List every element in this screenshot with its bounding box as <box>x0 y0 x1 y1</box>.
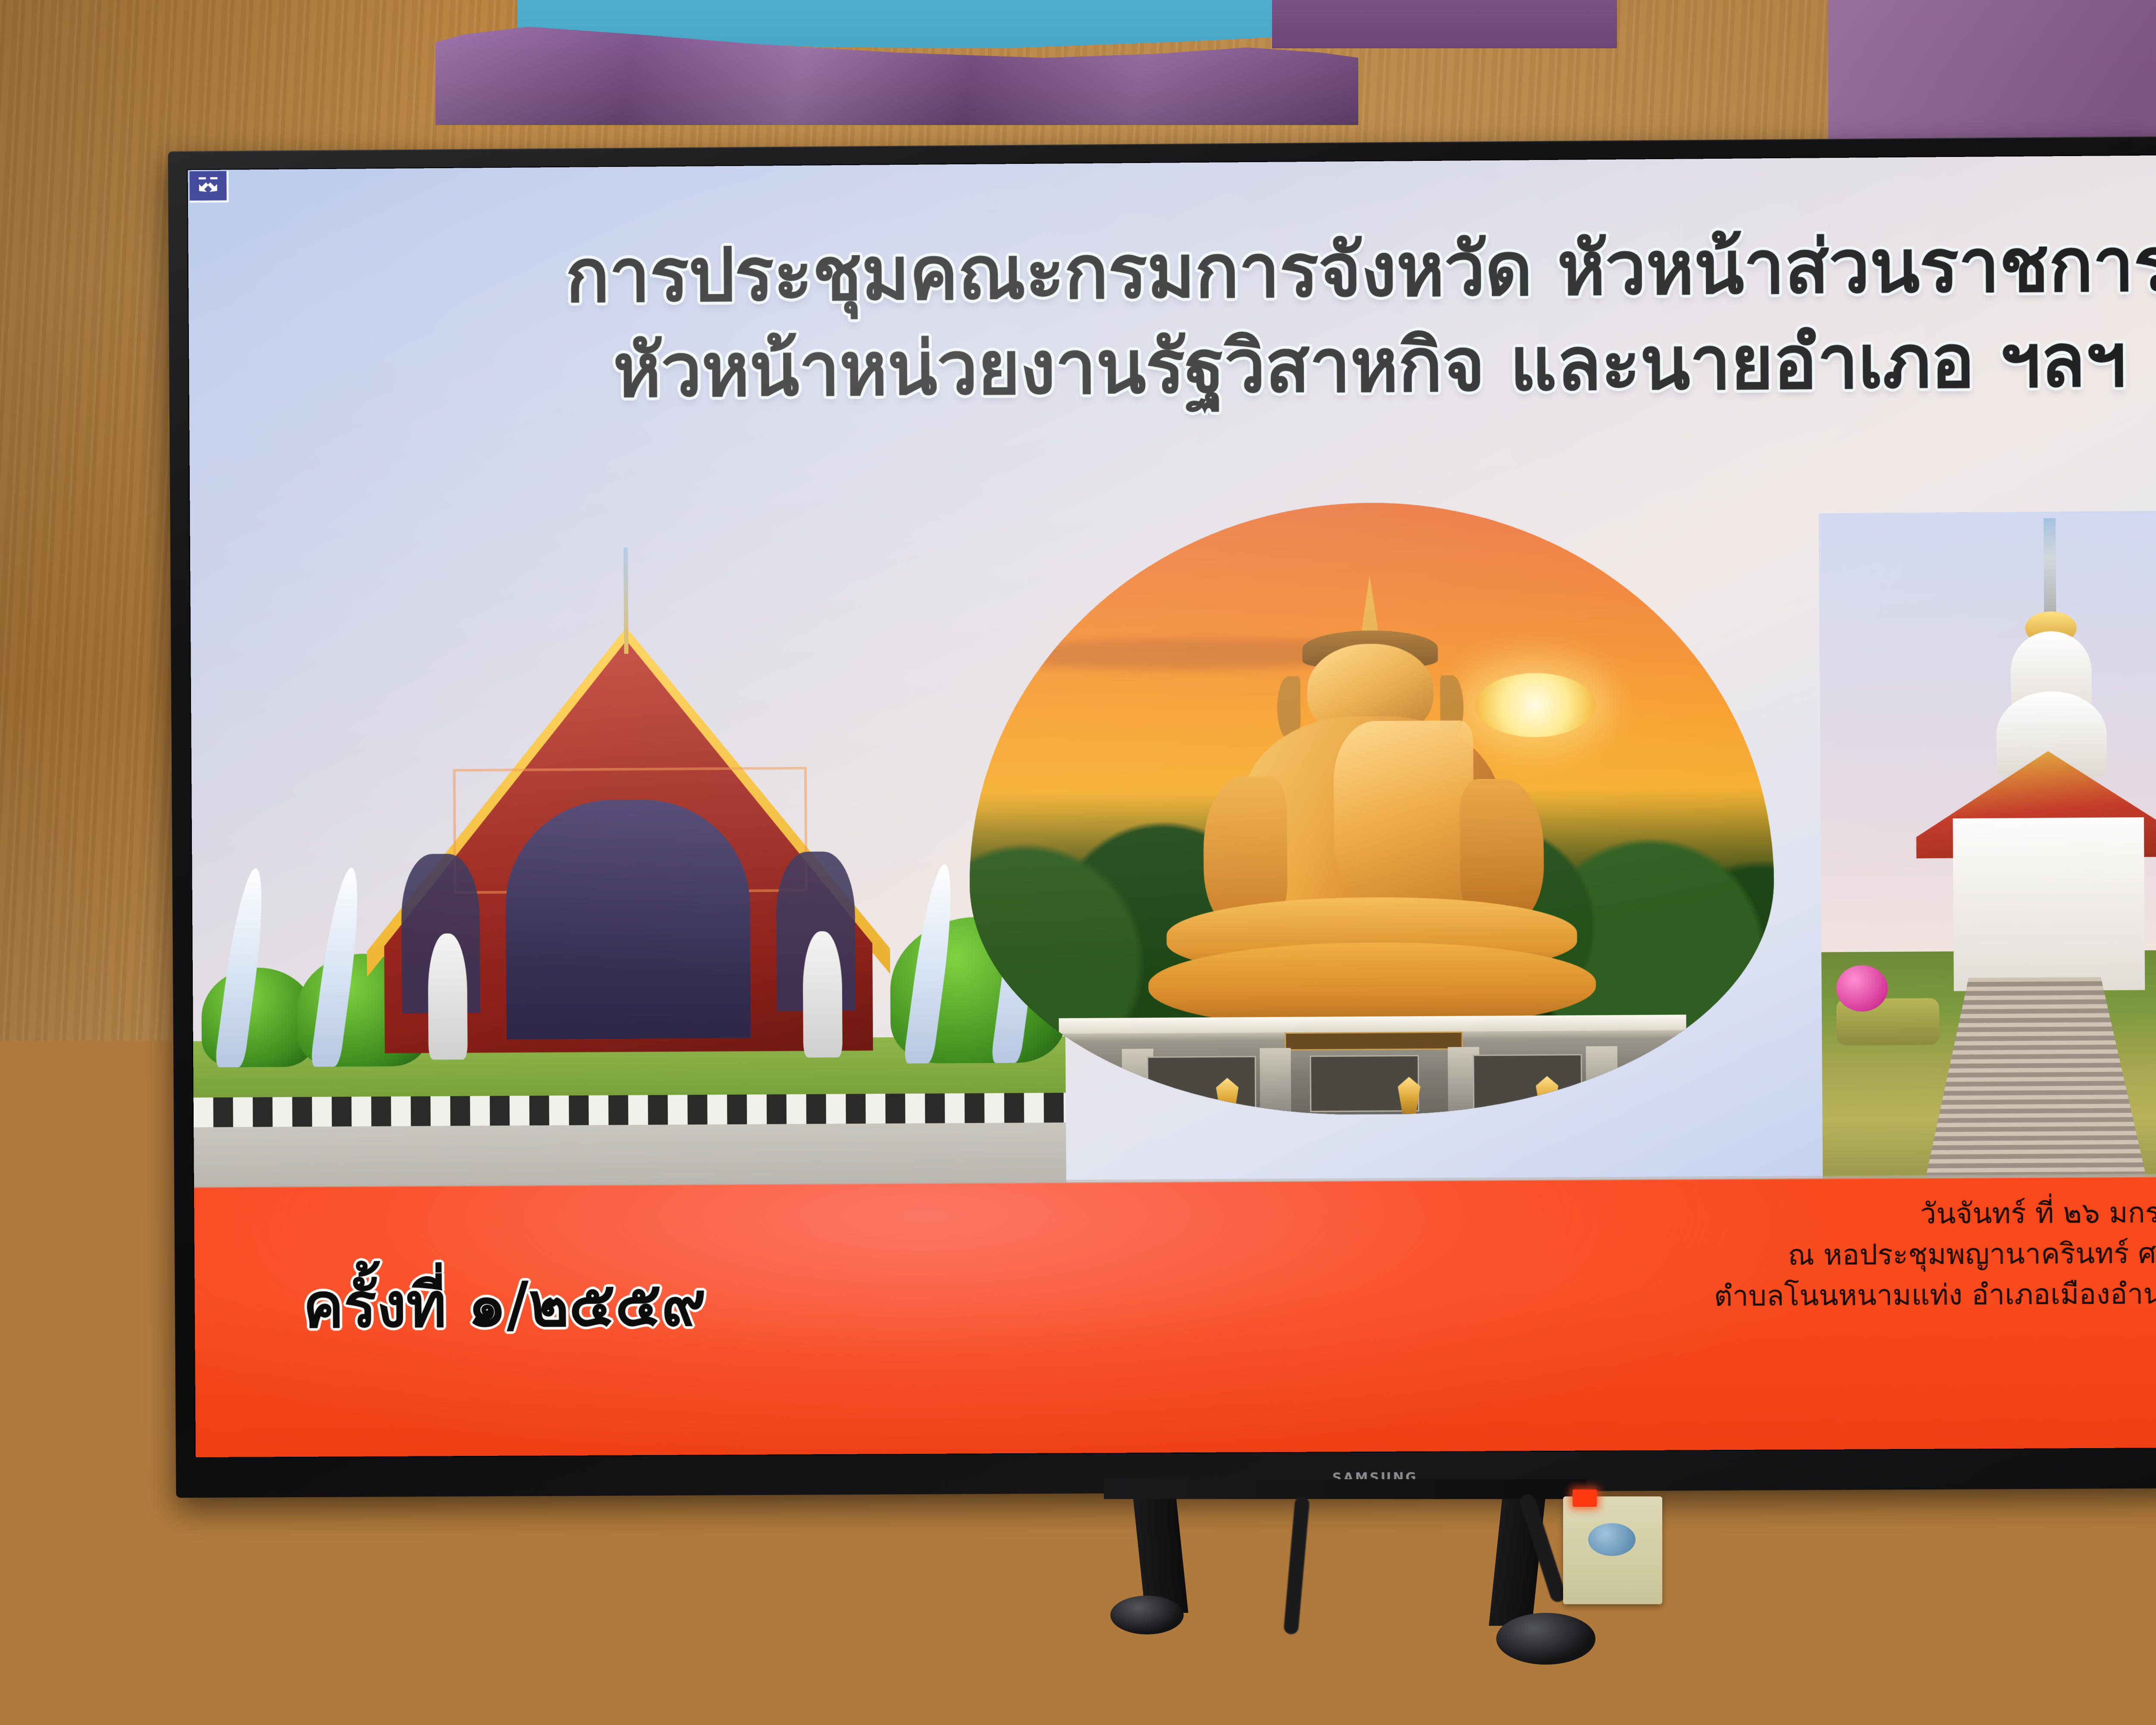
event-address: ตำบลโนนหนามแท่ง อำเภอเมืองอำนาจเจริญ จัง… <box>1714 1272 2156 1316</box>
temple-entrance <box>505 799 751 1039</box>
temple-spire <box>624 548 628 654</box>
pedestal-panel <box>1147 1056 1257 1113</box>
slide-photo-band <box>190 508 2156 1187</box>
pedestal-column <box>1260 1048 1291 1115</box>
pedestal-plaque <box>1285 1032 1463 1051</box>
stand-foot-left <box>1110 1596 1184 1634</box>
power-indicator-led <box>1573 1490 1597 1507</box>
table-seam <box>0 1703 2156 1706</box>
stand-foot-right <box>1496 1613 1595 1665</box>
stupa-spire <box>2043 518 2056 618</box>
buddha-photo-center <box>968 500 1776 1170</box>
pedestal-column <box>1586 1046 1617 1113</box>
lion-guardian-statue <box>428 933 468 1060</box>
power-strip-socket <box>1588 1523 1636 1556</box>
buddha-statue <box>1137 575 1606 1030</box>
stupa-base-building <box>1953 817 2145 991</box>
slide-title-line2: หัวหน้าหน่วยงานรัฐวิสาหกิจ และนายอำเภอ ฯ… <box>227 313 2156 419</box>
table-seam <box>0 1570 2156 1572</box>
exit-fullscreen-icon[interactable] <box>190 171 229 203</box>
sunset-oval <box>968 500 1775 1117</box>
temple-photo-left <box>190 518 1066 1187</box>
event-venue: ณ หอประชุมพญานาครินทร์ ศาลากลางจังหวัดอำ… <box>1714 1231 2156 1276</box>
tv-screen[interactable]: การประชุมคณะกรมการจังหวัด หัวหน้าส่วนราช… <box>188 153 2156 1457</box>
slide-title-block: การประชุมคณะกรมการจังหวัด หัวหน้าส่วนราช… <box>188 217 2156 419</box>
buddha-pedestal <box>1059 1015 1686 1116</box>
stupa-photo-right <box>1819 508 2156 1178</box>
buddha-robe <box>1333 720 1474 920</box>
pedestal-panel <box>1473 1054 1583 1111</box>
lion-guardian-statue <box>802 931 843 1057</box>
session-number-label: ครั้งที่ ๑/๒๕๕๙ <box>303 1255 706 1354</box>
buddha-flame-finial <box>1360 575 1379 640</box>
temple-curb <box>194 1093 1066 1127</box>
purple-fabric-far <box>1272 0 1617 48</box>
slide-title-line1: การประชุมคณะกรมการจังหวัด หัวหน้าส่วนราช… <box>227 217 2156 323</box>
temple-road <box>194 1123 1066 1187</box>
stand-crossbar <box>1104 1479 1587 1499</box>
presentation-slide: การประชุมคณะกรมการจังหวัด หัวหน้าส่วนราช… <box>188 153 2156 1457</box>
slide-footer-bar: ครั้งที่ ๑/๒๕๕๙ วันจันทร์ ที่ ๒๖ มกราคม … <box>194 1174 2156 1457</box>
pedestal-cap <box>1059 1015 1686 1034</box>
event-datetime: วันจันทร์ ที่ ๒๖ มกราคม ๒๕๕๙ เวลา ๐๙.๓๐ … <box>1713 1191 2156 1236</box>
television-display: SAMSUNG การประชุมคณะกรมการจังหวัด หัวหน้… <box>169 142 2156 1492</box>
event-details-block: วันจันทร์ ที่ ๒๖ มกราคม ๒๕๕๙ เวลา ๐๙.๓๐ … <box>1713 1191 2156 1316</box>
power-strip[interactable] <box>1563 1496 1662 1604</box>
